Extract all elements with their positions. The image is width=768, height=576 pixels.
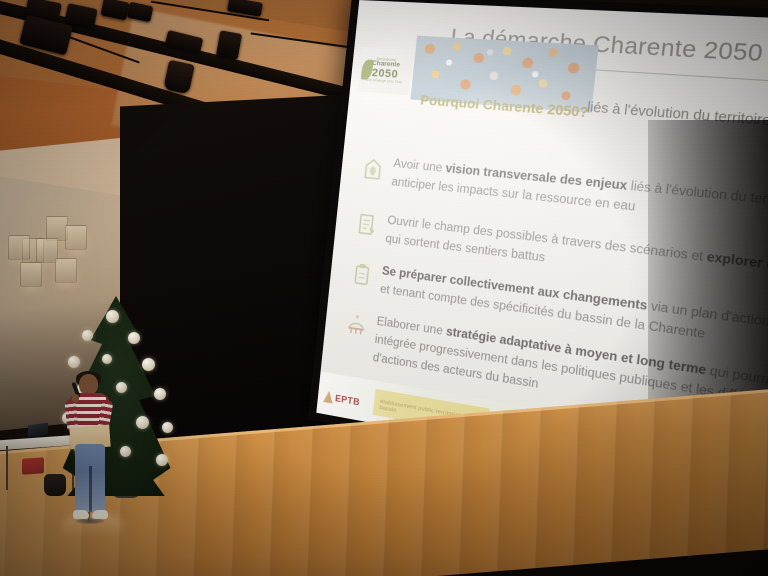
illustration-dot xyxy=(473,52,485,63)
illustration-dot xyxy=(548,48,558,57)
presenter xyxy=(62,374,120,532)
tree-ornament xyxy=(154,388,166,400)
illustration-dot xyxy=(453,42,462,51)
tree-ornament xyxy=(106,310,119,323)
illustration-dot xyxy=(424,43,435,54)
tree-ornament xyxy=(120,446,131,457)
bullet-lead: Avoir une xyxy=(393,158,443,175)
tree-ornament xyxy=(142,358,155,371)
tree-ornament xyxy=(82,330,93,341)
eptb-logo-text: EPTB xyxy=(335,393,361,407)
illustration-dot xyxy=(538,79,548,88)
eptb-mark-icon xyxy=(323,390,334,404)
wall-sconce xyxy=(55,258,77,283)
tree-ornament xyxy=(162,422,173,433)
illustration-dot xyxy=(487,49,494,56)
illustration-dot xyxy=(510,84,522,95)
illustration-dot xyxy=(431,70,440,79)
stage-light-fixture xyxy=(216,30,242,59)
illustration-dot xyxy=(532,71,539,78)
tree-ornament xyxy=(102,354,112,364)
wall-sconce xyxy=(65,225,87,250)
clipboard-icon xyxy=(351,261,373,288)
wall-sconce xyxy=(20,262,42,287)
wall-sconce xyxy=(8,235,30,260)
auditorium-presentation-photo: La démarche Charente 2050 Démarche Chare… xyxy=(0,0,768,576)
presenter-head xyxy=(79,374,98,395)
illustration-dot xyxy=(503,47,512,56)
floor-reflection-presenter xyxy=(62,512,124,538)
tree-ornament xyxy=(128,332,140,344)
house-plant-icon xyxy=(362,155,384,181)
illustration-dot xyxy=(567,62,579,74)
tree-ornament xyxy=(156,454,168,466)
charente-2050-logo: Démarche Charente 2050 une stratégie pou… xyxy=(358,47,414,95)
document-pencil-icon xyxy=(356,211,378,237)
presenter-hand xyxy=(72,394,79,402)
tree-ornament xyxy=(68,356,80,368)
tree-ornament xyxy=(136,416,149,429)
illustration-dot xyxy=(489,71,498,80)
red-chair xyxy=(22,457,44,475)
table-leg xyxy=(6,446,8,490)
bridge-icon xyxy=(346,311,368,338)
illustration-dot xyxy=(522,57,534,68)
illustration-dot xyxy=(460,79,472,90)
illustration-dot xyxy=(446,59,453,66)
presenter-leg-gap xyxy=(89,466,92,512)
logo-bottom-line: une stratégie pour l'eau xyxy=(366,79,402,85)
illustration-dot xyxy=(561,91,571,100)
